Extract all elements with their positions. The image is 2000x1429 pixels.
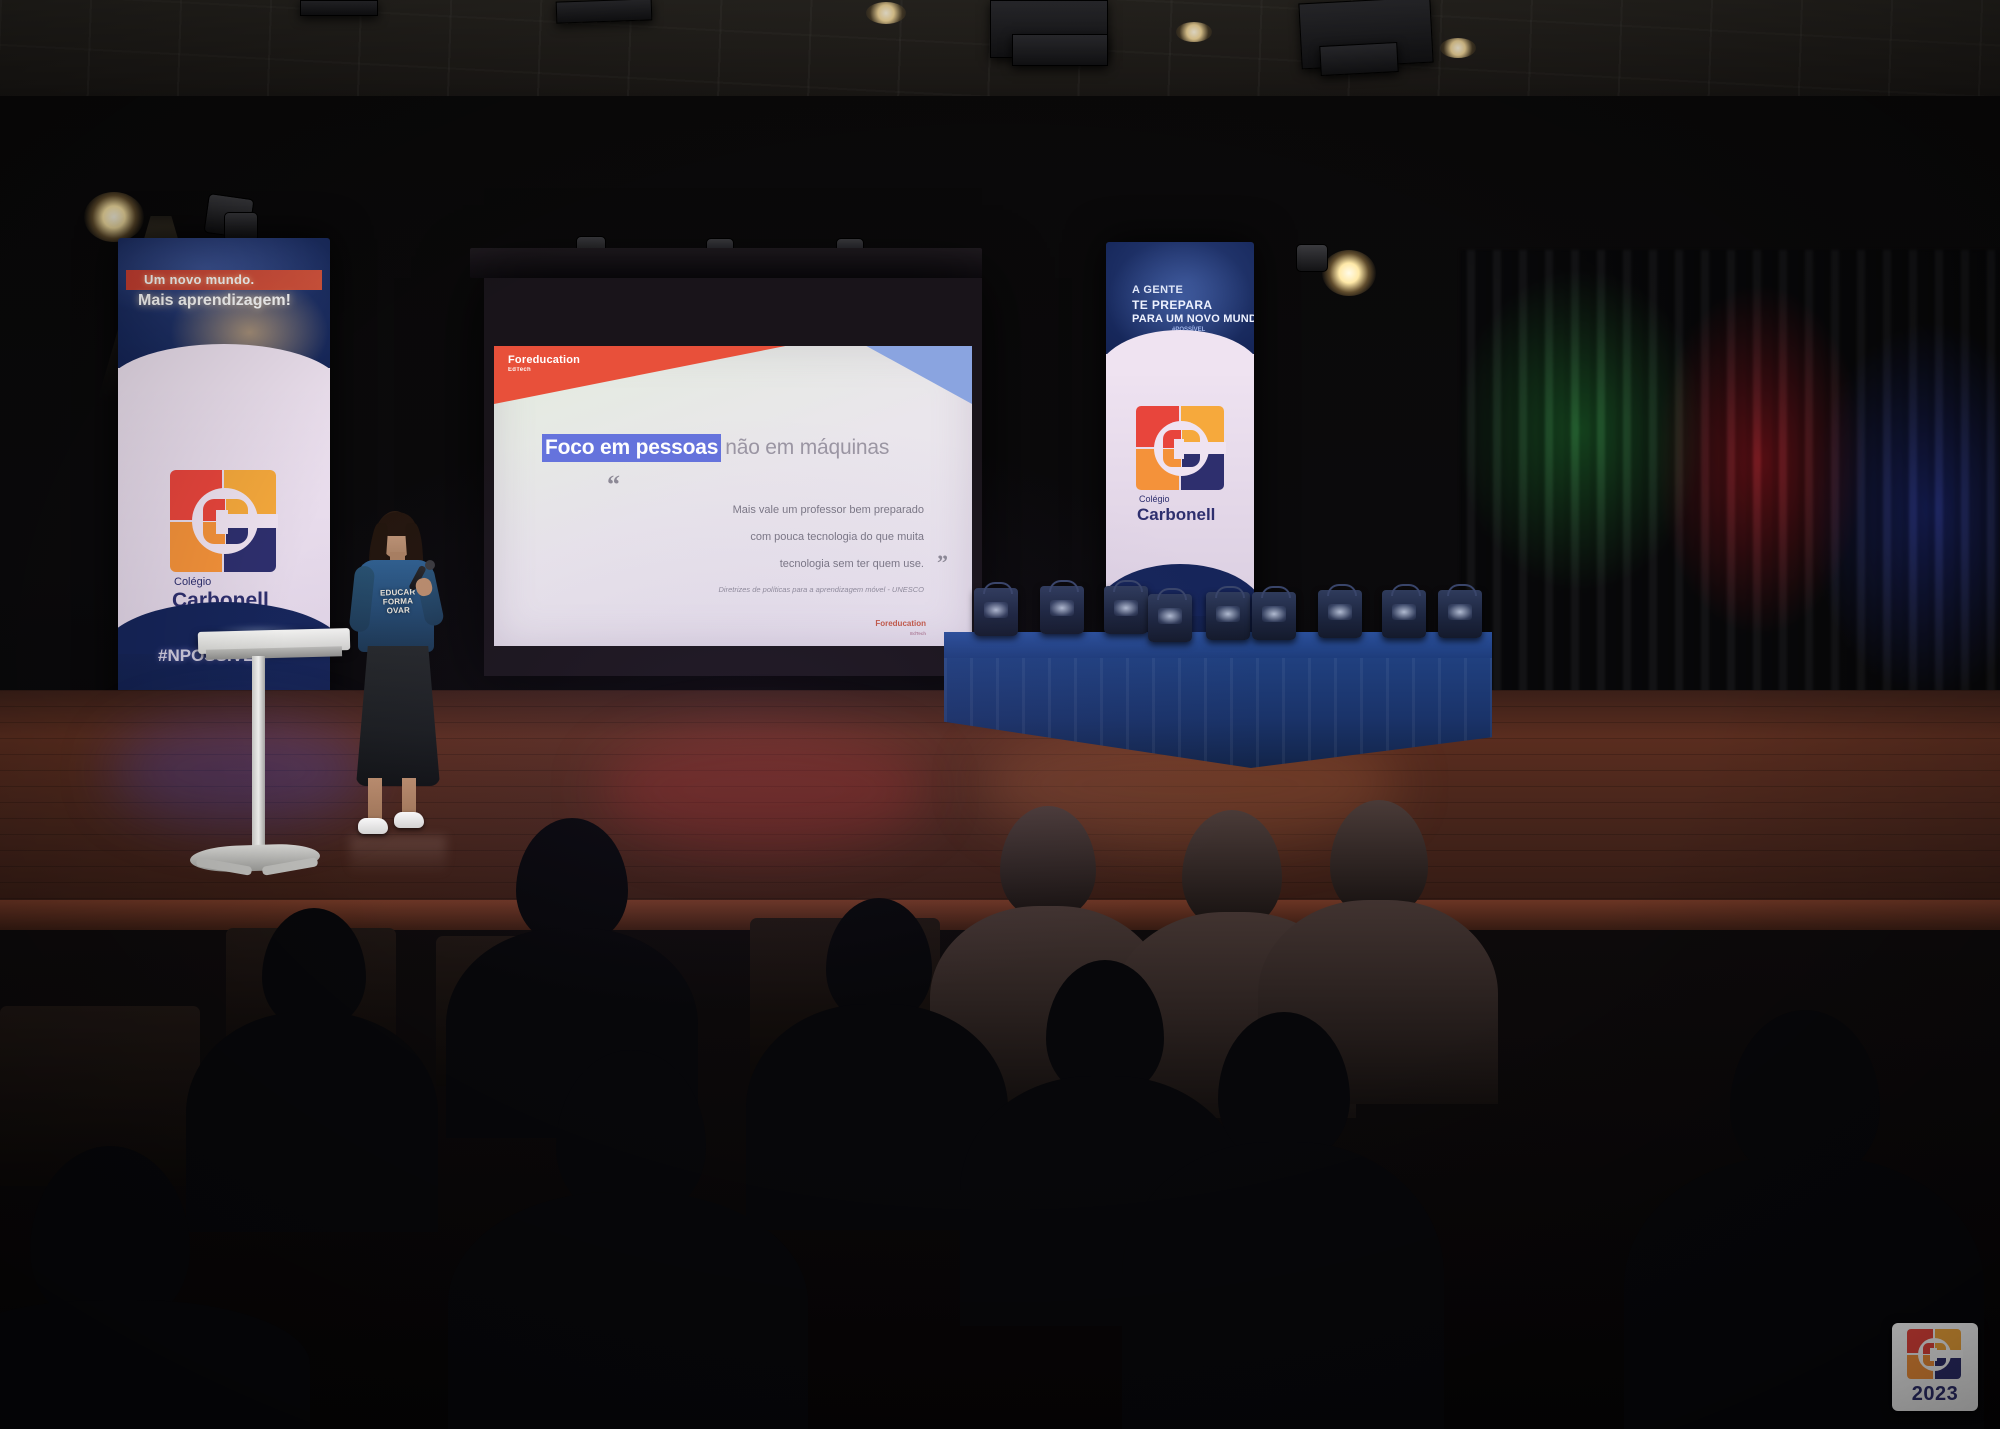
slide-headline: Foco em pessoasnão em máquinas — [542, 436, 889, 460]
floor-light-pool-red — [600, 730, 930, 850]
floor-light-pool-blue — [110, 716, 370, 826]
speaker-skirt — [356, 646, 440, 786]
bag-logo — [1262, 606, 1286, 622]
shirt-line-3: OVAR — [372, 605, 424, 616]
quote-line-1: Mais vale um professor bem preparado — [733, 504, 924, 516]
slide-footer-brand-sub: EdTech — [910, 631, 926, 636]
carbonell-logo-mark — [170, 470, 280, 574]
speaker-shoe-right — [394, 812, 424, 828]
carbonell-logo-mark — [1136, 406, 1228, 492]
slide-headline-rest: não em máquinas — [721, 436, 889, 459]
branded-bag — [974, 588, 1018, 636]
banner-left-tagline-1: Um novo mundo. — [144, 272, 254, 287]
quote-line-3: tecnologia sem ter quem use. — [780, 558, 924, 570]
carbonell-logo-badge — [1907, 1329, 1963, 1381]
banner-right-tagline-2: TE PREPARA — [1132, 298, 1212, 312]
ceiling-truss-fixture — [300, 0, 378, 16]
projection-screen: Foreducation EdTech Foco em pessoasnão e… — [484, 278, 982, 676]
bag-logo — [1050, 600, 1074, 616]
bag-logo — [1328, 604, 1352, 620]
bag-logo — [1114, 600, 1138, 616]
stage-light-rig — [1012, 34, 1108, 66]
banner-right-tagline-3: PARA UM NOVO MUNDO. — [1132, 313, 1254, 325]
quote-open-mark: “ — [607, 472, 620, 498]
logo-colegio-text: Colégio — [1139, 494, 1170, 504]
branded-bag — [1382, 590, 1426, 638]
logo-gap-horizontal — [1177, 442, 1226, 454]
quote-line-2: com pouca tecnologia do que muita — [750, 531, 924, 543]
carbonell-logo-left: Colégio Carbonell — [170, 470, 280, 615]
ceiling-pot-light — [1176, 22, 1212, 42]
branded-bag — [1252, 592, 1296, 640]
slide-brand-name: Foreducation — [508, 354, 580, 366]
audience-shoulders — [186, 1012, 438, 1232]
quote-close-mark: ” — [937, 552, 948, 574]
audience-shoulders — [448, 1192, 808, 1429]
banner-right-tagline-1: A GENTE — [1132, 284, 1183, 296]
banner-left: Um novo mundo. Mais aprendizagem! — [118, 238, 330, 748]
stage-light-rig — [1319, 42, 1398, 76]
logo-colegio-text: Colégio — [174, 576, 211, 588]
presentation-slide: Foreducation EdTech Foco em pessoasnão e… — [494, 346, 972, 646]
logo-gap-horizontal — [220, 514, 278, 528]
carbonell-logo-right: Colégio Carbonell — [1136, 406, 1228, 528]
lectern-pole — [252, 656, 265, 856]
speaker-shoe-left — [358, 818, 388, 834]
badge-year-label: 2023 — [1912, 1383, 1959, 1406]
ceiling-pot-light — [1440, 38, 1476, 58]
slide-blue-diagonal — [852, 346, 972, 404]
logo-carbonell-text: Carbonell — [1137, 505, 1215, 525]
branded-bag — [1104, 586, 1148, 634]
slide-footer-brand: Foreducation — [875, 619, 926, 628]
year-watermark-badge: 2023 — [1892, 1323, 1978, 1411]
logo-gap-vertical — [216, 510, 228, 534]
spotlight-glow — [84, 192, 144, 242]
microphone-head — [425, 560, 435, 570]
bag-logo — [1448, 604, 1472, 620]
audience-shoulders — [1122, 1142, 1444, 1429]
branded-bag — [1318, 590, 1362, 638]
ceiling-truss-fixture — [556, 0, 653, 24]
bag-logo — [984, 602, 1008, 618]
spotlight-glow — [1322, 250, 1376, 296]
bag-logo — [1392, 604, 1416, 620]
slide-headline-highlight: Foco em pessoas — [542, 434, 721, 462]
auditorium-photo: Um novo mundo. Mais aprendizagem! — [0, 0, 2000, 1429]
spotlight-fixture — [1296, 244, 1328, 272]
branded-bag — [1438, 590, 1482, 638]
projection-screen-housing — [470, 248, 982, 278]
bag-logo — [1216, 606, 1240, 622]
branded-bag — [1040, 586, 1084, 634]
branded-bag — [1206, 592, 1250, 640]
banner-right-white-panel: Colégio Carbonell — [1106, 354, 1254, 594]
slide-brand-sub: EdTech — [508, 367, 531, 373]
bag-logo — [1158, 608, 1182, 624]
banner-left-tagline-2: Mais aprendizagem! — [138, 292, 291, 310]
branded-bag — [1148, 594, 1192, 642]
logo-gap-vertical — [1930, 1348, 1937, 1361]
quote-source-attribution: Diretrizes de políticas para a aprendiza… — [719, 585, 925, 594]
logo-gap-vertical — [1174, 439, 1184, 459]
ceiling-pot-light — [866, 2, 906, 24]
speaker-floor-reflection — [350, 836, 446, 884]
